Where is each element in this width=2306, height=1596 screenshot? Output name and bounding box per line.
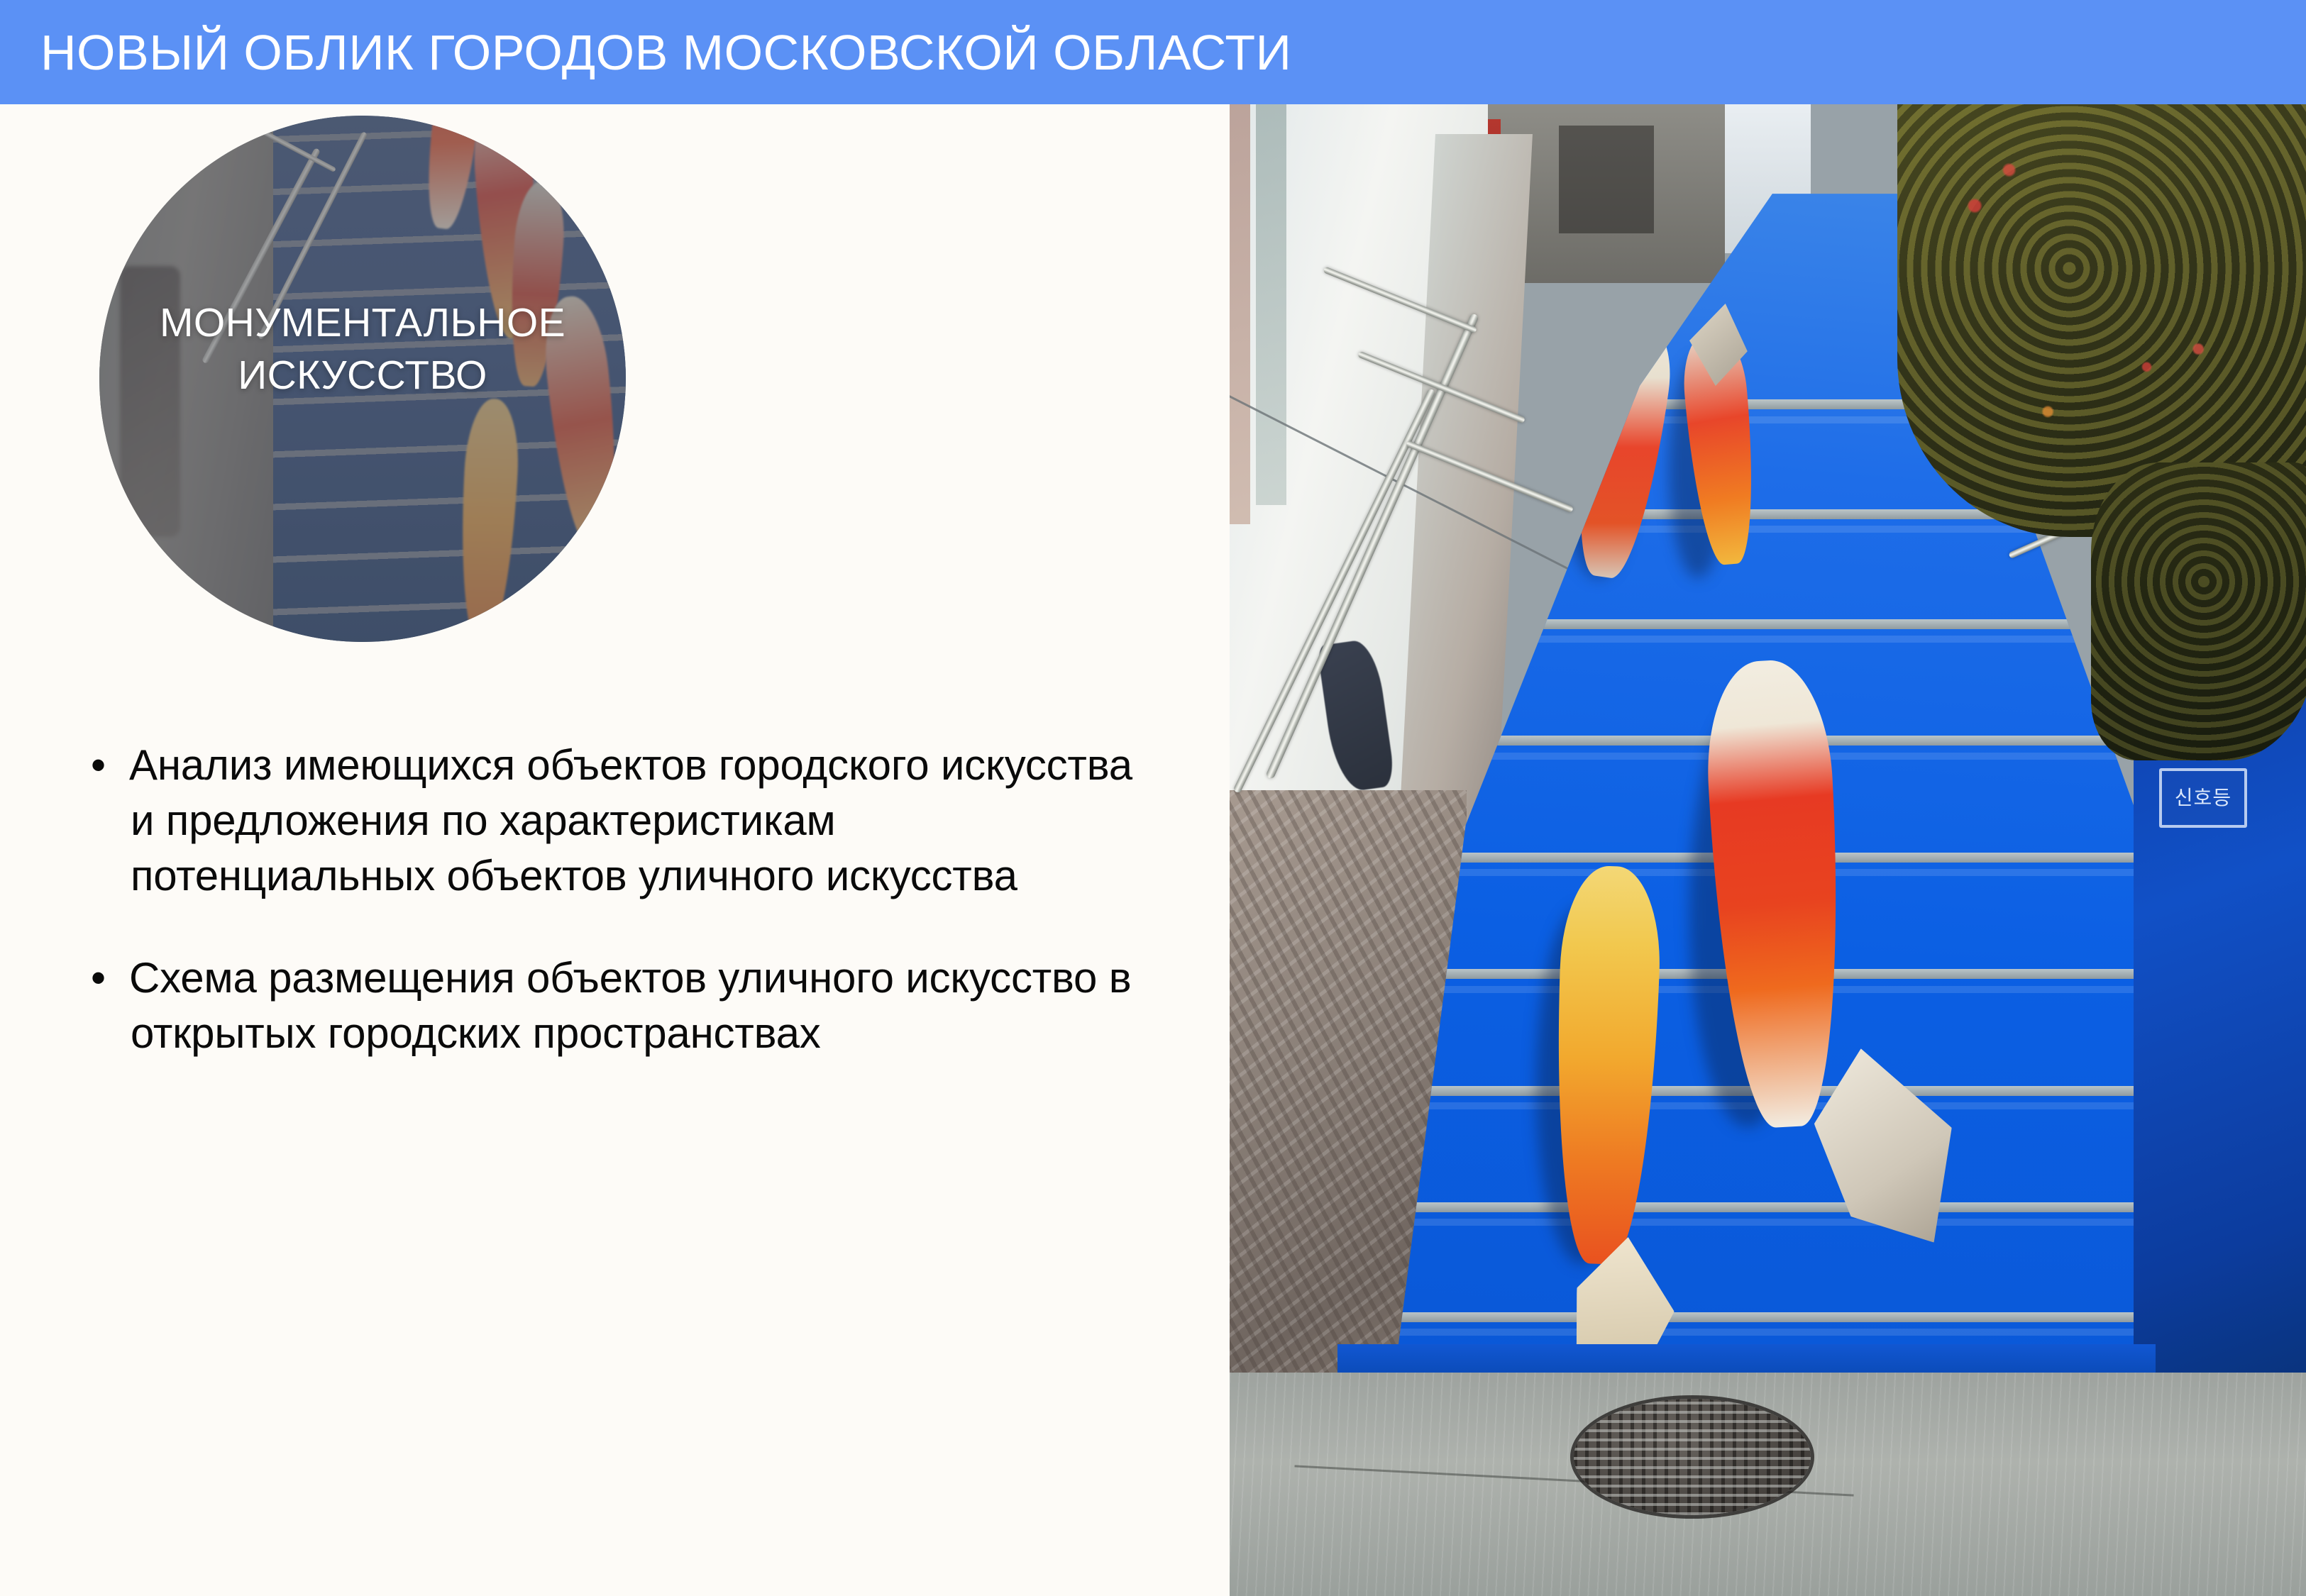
badge-caption-line-1: МОНУМЕНТАЛЬНОЕ	[99, 297, 626, 349]
korean-street-sign: 신호등	[2159, 768, 2246, 828]
page-title: НОВЫЙ ОБЛИК ГОРОДОВ МОСКОВСКОЙ ОБЛАСТИ	[40, 20, 1291, 85]
bullet-item: •Анализ имеющихся объектов городского ис…	[91, 738, 1141, 904]
bullet-marker: •	[91, 738, 129, 793]
koi-tail	[1565, 285, 1648, 392]
slide-root: НОВЫЙ ОБЛИК ГОРОДОВ МОСКОВСКОЙ ОБЛАСТИ	[0, 0, 2306, 1596]
badge-caption: МОНУМЕНТАЛЬНОЕ ИСКУССТВО	[99, 297, 626, 401]
body-copy: •Анализ имеющихся объектов городского ис…	[91, 738, 1141, 1061]
circular-badge: МОНУМЕНТАЛЬНОЕ ИСКУССТВО	[99, 116, 626, 642]
bullet-text: Анализ имеющихся объектов городского иск…	[129, 741, 1132, 899]
badge-caption-line-2: ИСКУССТВО	[99, 349, 626, 401]
step-tread	[1391, 1202, 2220, 1212]
bullet-item: •Схема размещения объектов уличного иску…	[91, 951, 1141, 1061]
bullet-text: Схема размещения объектов уличного искус…	[129, 954, 1131, 1057]
step-tread	[1391, 1312, 2220, 1322]
photo-pavement	[1230, 1373, 2306, 1596]
bullet-marker: •	[91, 951, 129, 1006]
photo-tree-foliage-lower	[2091, 462, 2306, 761]
koi-tail	[1799, 1031, 1978, 1263]
step-riser	[1391, 1219, 2220, 1226]
step-riser	[1391, 1329, 2220, 1336]
header-bar: НОВЫЙ ОБЛИК ГОРОДОВ МОСКОВСКОЙ ОБЛАСТИ	[0, 0, 2306, 104]
manhole-cover	[1574, 1399, 1811, 1515]
stairs-photo: 신호등	[1230, 104, 2306, 1596]
